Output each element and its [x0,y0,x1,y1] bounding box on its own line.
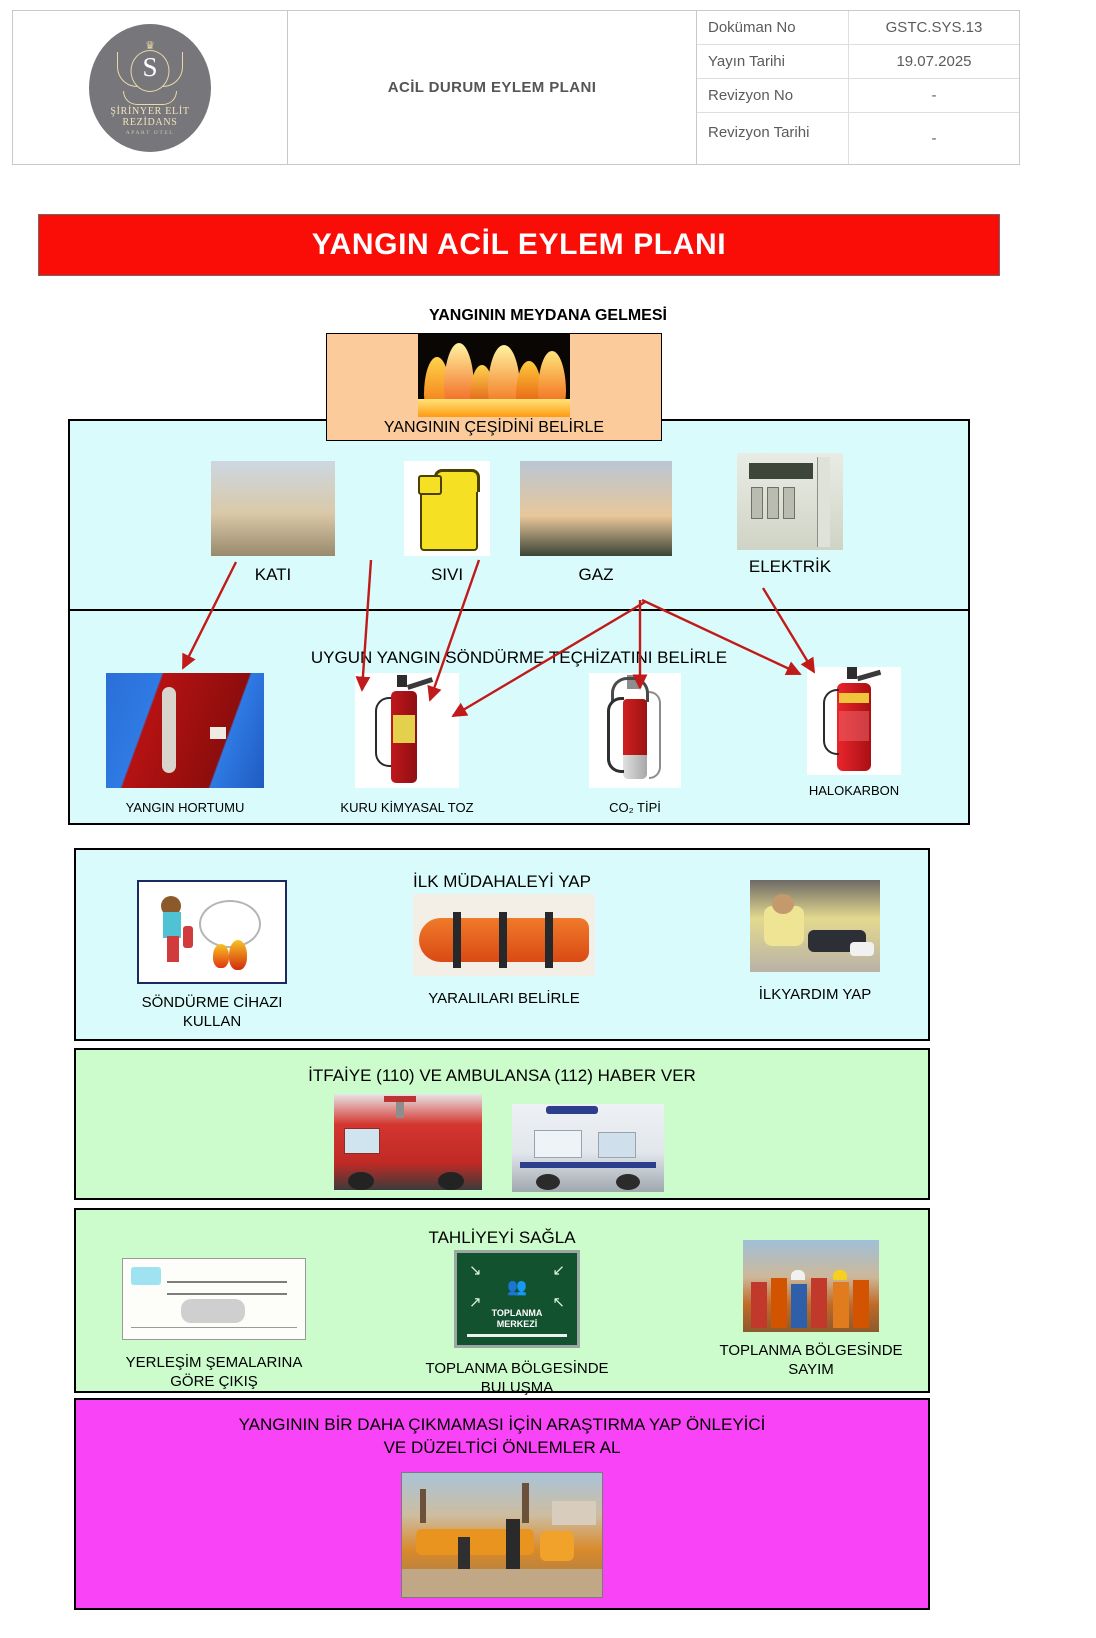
meta-value: - [849,113,1019,164]
ignition-box-caption: YANGININ ÇEŞİDİNİ BELİRLE [327,419,661,437]
ambulance-image [512,1104,664,1192]
evacuation-panel: TAHLİYEYİ SAĞLA YERLEŞİM ŞEMALARINA GÖRE… [74,1208,930,1393]
plan-banner: YANGIN ACİL EYLEM PLANI [38,214,1000,276]
equipment-co2-tipi: CO₂ TİPİ [540,673,730,816]
equipment-heading: UYGUN YANGIN SÖNDÜRME TEÇHİZATINI BELİRL… [70,648,968,668]
liquid-fuel-can-image [404,461,490,556]
drill-photo-cell [401,1472,603,1598]
meta-key: Yayın Tarihi [697,45,849,78]
evacuation-label: TOPLANMA BÖLGESİNDE SAYIM [694,1342,928,1379]
use-extinguisher-illustration [137,880,287,984]
evacuation-toplanma-bulusma: ↘ ↙ ↗ ↖ 👥 TOPLANMA MERKEZİ TOPLANMA BÖLG… [402,1250,632,1397]
fire-type-kati: KATI [208,461,338,585]
equipment-panel: UYGUN YANGIN SÖNDÜRME TEÇHİZATINI BELİRL… [68,610,970,825]
call-services-heading: İTFAİYE (110) VE AMBULANSA (112) HABER V… [76,1066,928,1086]
fire-type-label: GAZ [508,564,684,585]
assembly-count-image [743,1240,879,1332]
evacuation-toplanma-sayim: TOPLANMA BÖLGESİNDE SAYIM [694,1240,928,1379]
first-response-panel: İLK MÜDAHALEYİ YAP SÖNDÜRME CİHAZI KULLA… [74,848,930,1041]
logo-line1: ŞİRİNYER ELİT [110,106,189,117]
equipment-halokarbon: HALOKARBON [748,667,960,799]
fire-types-panel: KATI SIVI GAZ ELEKTRİK [68,419,970,610]
fire-type-label: KATI [208,564,338,585]
stretcher-image [413,894,595,976]
first-response-label: İLKYARDIM YAP [704,986,926,1005]
fire-truck-cell [334,1094,482,1190]
first-response-ilkyardim: İLKYARDIM YAP [704,880,926,1005]
first-response-label: SÖNDÜRME CİHAZI KULLAN [102,994,322,1031]
assembly-sign-line2: MERKEZİ [497,1319,538,1329]
meta-key: Doküman No [697,11,849,44]
evacuation-yerlesim-semasi: YERLEŞİM ŞEMALARINA GÖRE ÇIKIŞ [94,1258,334,1391]
document-meta: Doküman No GSTC.SYS.13 Yayın Tarihi 19.0… [697,11,1019,164]
fire-drill-image [401,1472,603,1598]
document-title-cell: ACİL DURUM EYLEM PLANI [288,11,697,164]
meta-value: - [849,79,1019,112]
first-aid-image [750,880,880,972]
crest-sweep [123,91,177,105]
halocarbon-extinguisher-image [807,667,901,775]
ignition-box: YANGININ ÇEŞİDİNİ BELİRLE [326,333,662,441]
document-title: ACİL DURUM EYLEM PLANI [388,79,597,96]
equipment-label: HALOKARBON [748,783,960,799]
crest-icon: ♛ S [117,41,183,103]
equipment-yangin-hortumu: YANGIN HORTUMU [80,673,290,816]
meta-row-revision-no: Revizyon No - [697,79,1019,113]
call-services-panel: İTFAİYE (110) VE AMBULANSA (112) HABER V… [74,1048,930,1200]
evacuation-label: TOPLANMA BÖLGESİNDE BULUŞMA [402,1360,632,1397]
meta-key: Revizyon Tarihi [697,113,849,164]
meta-row-publish-date: Yayın Tarihi 19.07.2025 [697,45,1019,79]
plan-banner-title: YANGIN ACİL EYLEM PLANI [312,228,726,262]
floor-plan-image [122,1258,306,1340]
logo-letter: S [142,54,157,81]
logo-line3: APART OTEL [126,130,175,136]
fire-truck-image [334,1094,482,1190]
fire-type-label: SIVI [386,564,508,585]
logo-cell: ♛ S ŞİRİNYER ELİT REZİDANS APART OTEL [13,11,288,164]
equipment-label: CO₂ TİPİ [540,800,730,816]
meta-row-revision-date: Revizyon Tarihi - [697,113,1019,164]
meta-key: Revizyon No [697,79,849,112]
gas-fire-image [520,461,672,556]
ignition-label: YANGININ MEYDANA GELMESİ [0,307,1096,325]
fire-type-elektrik: ELEKTRİK [670,453,910,577]
meta-value: 19.07.2025 [849,45,1019,78]
assembly-point-sign-image: ↘ ↙ ↗ ↖ 👥 TOPLANMA MERKEZİ [454,1250,580,1348]
first-response-sondurme: SÖNDÜRME CİHAZI KULLAN [102,880,322,1031]
company-logo: ♛ S ŞİRİNYER ELİT REZİDANS APART OTEL [89,24,211,152]
solid-fire-image [211,461,335,556]
fire-type-gaz: GAZ [508,461,684,585]
prevention-panel: YANGININ BİR DAHA ÇIKMAMASI İÇİN ARAŞTIR… [74,1398,930,1610]
fire-type-sivi: SIVI [386,461,508,585]
first-response-label: YARALILARI BELİRLE [392,990,616,1009]
equipment-kuru-kimyasal-toz: KURU KİMYASAL TOZ [312,673,502,816]
logo-line2: REZİDANS [122,117,177,128]
equipment-label: YANGIN HORTUMU [80,800,290,816]
ambulance-cell [512,1104,664,1192]
equipment-label: KURU KİMYASAL TOZ [312,800,502,816]
fire-type-label: ELEKTRİK [670,556,910,577]
meta-row-document-no: Doküman No GSTC.SYS.13 [697,11,1019,45]
evacuation-label: YERLEŞİM ŞEMALARINA GÖRE ÇIKIŞ [94,1354,334,1391]
prevention-heading: YANGININ BİR DAHA ÇIKMAMASI İÇİN ARAŞTIR… [76,1414,928,1460]
co2-extinguisher-image [589,673,681,788]
assembly-sign-line1: TOPLANMA [492,1308,543,1318]
electrical-panel-image [737,453,843,550]
fire-hose-cabinet-image [106,673,264,788]
fire-flames-image [418,334,570,417]
meta-value: GSTC.SYS.13 [849,11,1019,44]
document-header-table: ♛ S ŞİRİNYER ELİT REZİDANS APART OTEL AC… [12,10,1020,165]
dry-powder-extinguisher-image [355,673,459,788]
first-response-yaralilari-belirle: YARALILARI BELİRLE [392,894,616,1009]
